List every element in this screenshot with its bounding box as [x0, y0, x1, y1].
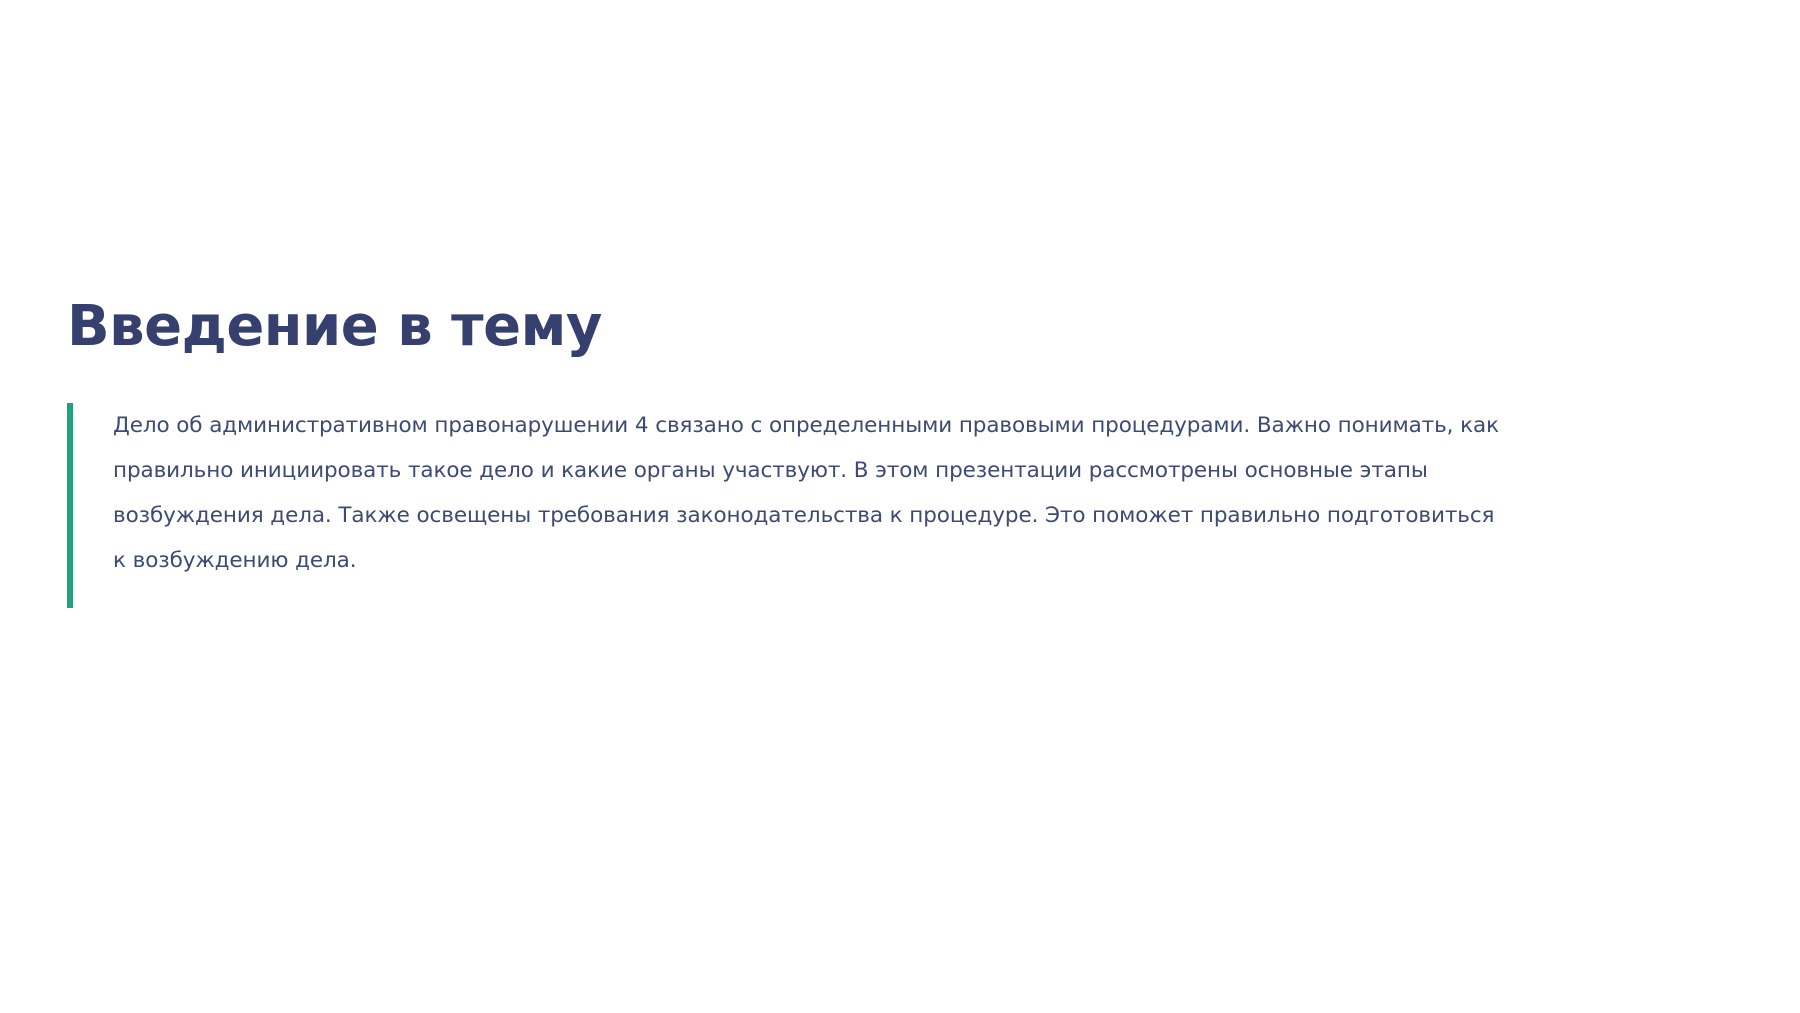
page-title: Введение в тему [67, 296, 1733, 359]
accent-bar [67, 403, 73, 608]
body-paragraph: Дело об административном правонарушении … [113, 403, 1513, 583]
slide-content: Введение в тему Дело об административном… [67, 296, 1733, 608]
body-text-block: Дело об административном правонарушении … [67, 403, 1733, 608]
presentation-slide: Введение в тему Дело об административном… [0, 0, 1800, 1013]
